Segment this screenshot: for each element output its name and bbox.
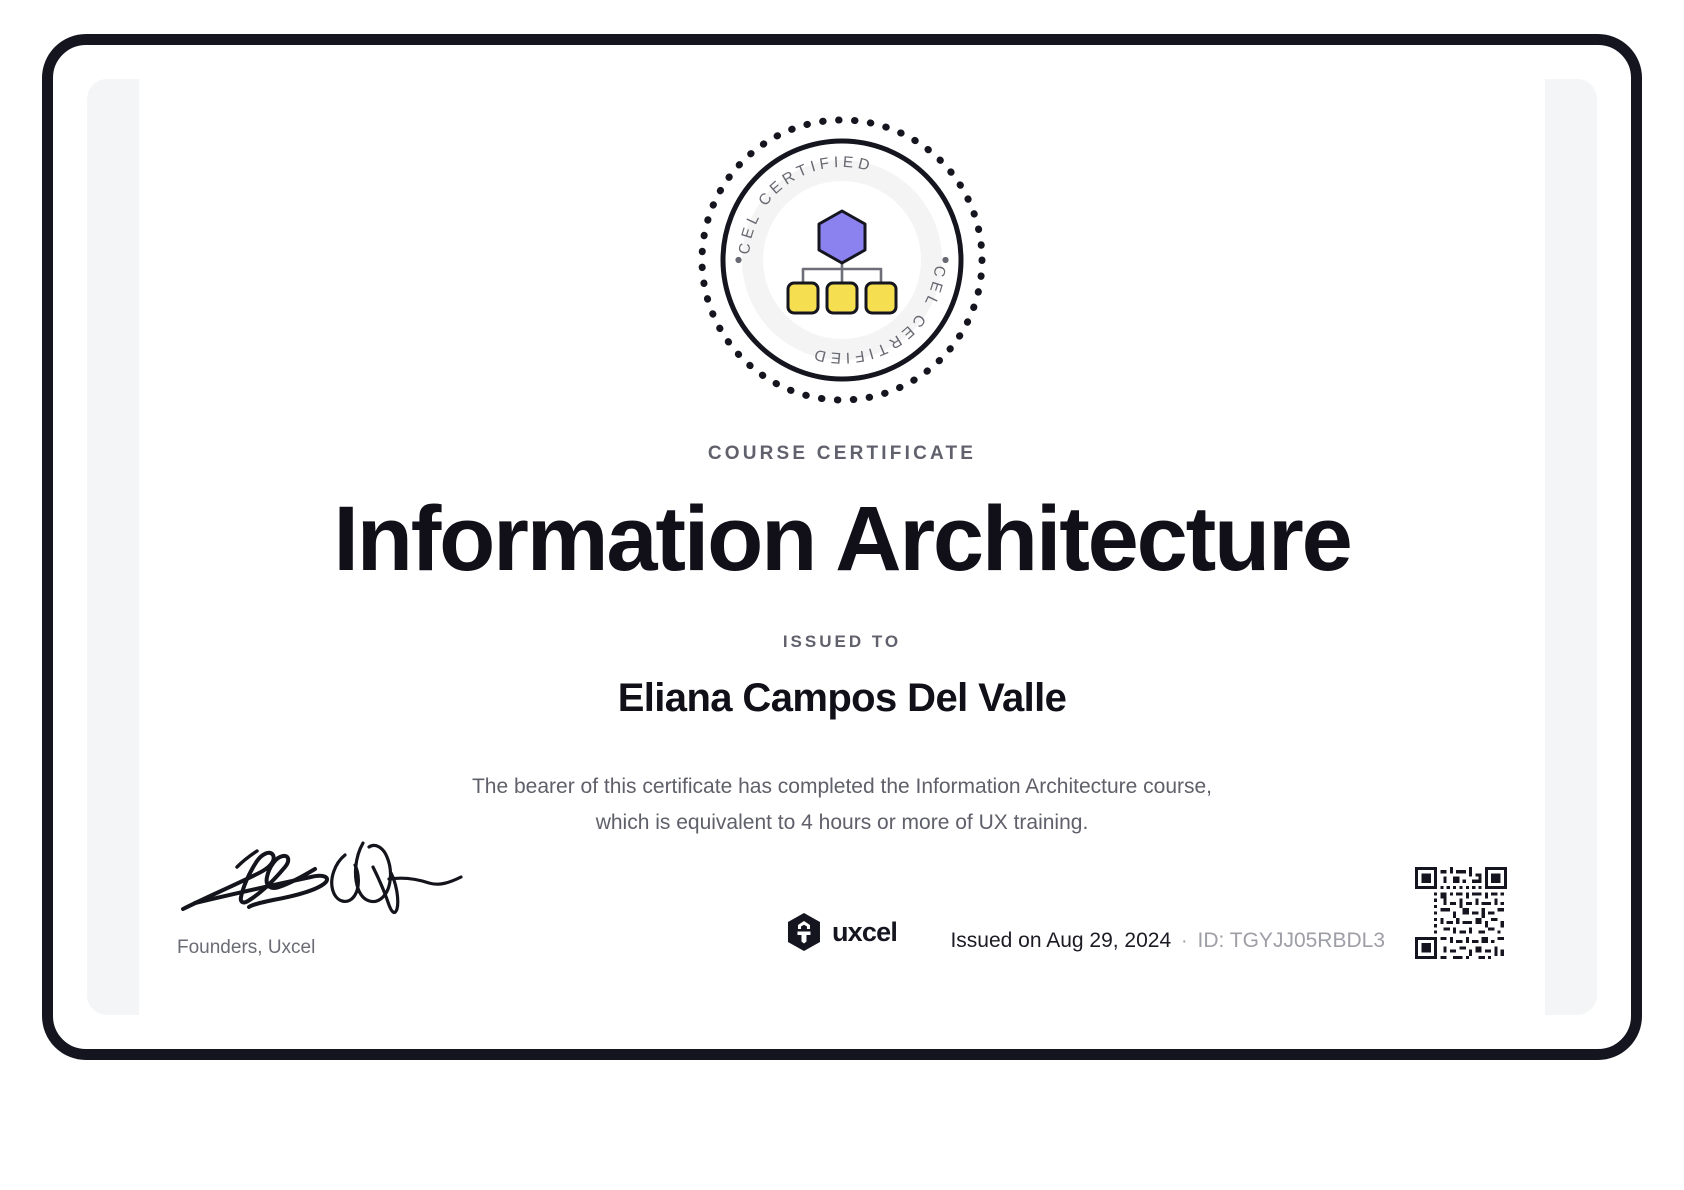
certificate-frame: UXCEL CERTIFIED UXCEL CERTIFIED [42, 34, 1642, 1060]
hierarchy-root-hexagon [819, 211, 865, 263]
signature-one-icon [177, 833, 477, 925]
signature-two-icon [332, 843, 461, 912]
uxcel-brand-logo: uxcel [787, 913, 897, 951]
issuance-details: Issued on Aug 29, 2024 · ID: TGYJJ05RBDL… [950, 929, 1385, 959]
uxcel-hexagon-icon [787, 913, 821, 951]
qr-code[interactable] [1415, 867, 1507, 959]
certificate-mat: UXCEL CERTIFIED UXCEL CERTIFIED [87, 79, 1597, 1015]
founder-signatures [177, 833, 507, 925]
hierarchy-node-3 [866, 283, 896, 313]
certificate-type-eyebrow: COURSE CERTIFICATE [708, 443, 976, 465]
issued-on-date: Issued on Aug 29, 2024 [950, 929, 1171, 953]
founders-label: Founders, Uxcel [177, 937, 507, 959]
certificate-content: UXCEL CERTIFIED UXCEL CERTIFIED [139, 79, 1545, 1015]
seal-bullet-left [735, 257, 741, 263]
certificate-id: ID: TGYJJ05RBDL3 [1197, 929, 1385, 953]
signature-block: Founders, Uxcel [177, 833, 507, 959]
certificate-footer: Founders, Uxcel uxcel Issued on Aug 29, … [177, 809, 1507, 959]
meta-separator: · [1181, 931, 1187, 953]
course-title: Information Architecture [333, 491, 1350, 588]
hierarchy-node-1 [788, 283, 818, 313]
hierarchy-node-2 [827, 283, 857, 313]
issued-to-label: ISSUED TO [783, 632, 901, 652]
recipient-name: Eliana Campos Del Valle [618, 676, 1067, 721]
certificate-meta: Issued on Aug 29, 2024 · ID: TGYJJ05RBDL… [887, 867, 1507, 959]
seal-bullet-right [942, 257, 948, 263]
uxcel-certified-seal: UXCEL CERTIFIED UXCEL CERTIFIED [697, 115, 987, 405]
description-line-1: The bearer of this certificate has compl… [472, 775, 1137, 798]
